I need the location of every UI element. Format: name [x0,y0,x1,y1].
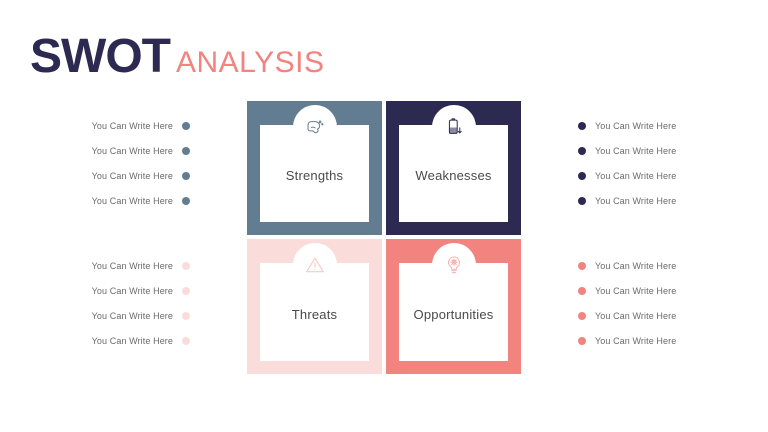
bullet-label: You Can Write Here [92,196,173,206]
swot-quadrant-grid: Strengths Weaknesses [247,101,521,374]
icon-badge-weaknesses [432,105,476,149]
list-item[interactable]: You Can Write Here [92,113,190,138]
bullet-list-opportunities: You Can Write Here You Can Write Here Yo… [578,253,708,353]
bullet-label: You Can Write Here [595,336,676,346]
bullet-dot-icon [182,262,190,270]
list-item[interactable]: You Can Write Here [578,163,676,188]
icon-badge-threats [293,243,337,287]
bullet-dot-icon [182,312,190,320]
bullet-label: You Can Write Here [92,146,173,156]
list-item[interactable]: You Can Write Here [578,303,676,328]
list-item[interactable]: You Can Write Here [92,278,190,303]
low-battery-icon [443,116,465,138]
bullet-dot-icon [182,287,190,295]
list-item[interactable]: You Can Write Here [92,303,190,328]
quadrant-label: Strengths [286,168,343,183]
bullet-dot-icon [578,197,586,205]
bullet-dot-icon [182,172,190,180]
list-item[interactable]: You Can Write Here [578,188,676,213]
list-item[interactable]: You Can Write Here [92,328,190,353]
bullet-dot-icon [578,122,586,130]
bullet-label: You Can Write Here [595,196,676,206]
bullet-label: You Can Write Here [92,311,173,321]
quadrant-label: Weaknesses [415,168,491,183]
warning-triangle-icon [304,254,326,276]
quadrant-label: Opportunities [414,307,494,322]
page-title: SWOT ANALYSIS [30,33,325,81]
bullet-dot-icon [182,337,190,345]
bullet-dot-icon [578,287,586,295]
bullet-label: You Can Write Here [595,121,676,131]
title-sub-word: ANALYSIS [176,48,325,78]
swot-analysis-slide: SWOT ANALYSIS You Can Write Here You Can… [0,0,768,432]
bullet-label: You Can Write Here [595,146,676,156]
list-item[interactable]: You Can Write Here [92,253,190,278]
bullet-label: You Can Write Here [92,121,173,131]
bullet-dot-icon [578,337,586,345]
bullet-dot-icon [578,262,586,270]
bullet-label: You Can Write Here [595,311,676,321]
bullet-dot-icon [182,122,190,130]
bullet-label: You Can Write Here [92,336,173,346]
list-item[interactable]: You Can Write Here [578,253,676,278]
quadrant-threats[interactable]: Threats [247,239,382,374]
list-item[interactable]: You Can Write Here [92,188,190,213]
bullet-dot-icon [578,172,586,180]
bullet-label: You Can Write Here [92,261,173,271]
list-item[interactable]: You Can Write Here [578,138,676,163]
list-item[interactable]: You Can Write Here [92,138,190,163]
list-item[interactable]: You Can Write Here [578,113,676,138]
quadrant-label: Threats [292,307,337,322]
quadrant-strengths[interactable]: Strengths [247,101,382,235]
lightbulb-gear-icon [443,254,465,276]
list-item[interactable]: You Can Write Here [578,278,676,303]
bullet-dot-icon [182,147,190,155]
title-main-word: SWOT [30,33,170,81]
bullet-label: You Can Write Here [92,286,173,296]
flexed-bicep-icon [304,116,326,138]
bullet-list-threats: You Can Write Here You Can Write Here Yo… [60,253,190,353]
quadrant-weaknesses[interactable]: Weaknesses [386,101,521,235]
list-item[interactable]: You Can Write Here [578,328,676,353]
bullet-label: You Can Write Here [595,286,676,296]
icon-badge-opportunities [432,243,476,287]
bullet-list-strengths: You Can Write Here You Can Write Here Yo… [60,113,190,213]
bullet-label: You Can Write Here [595,261,676,271]
bullet-list-weaknesses: You Can Write Here You Can Write Here Yo… [578,113,708,213]
bullet-dot-icon [182,197,190,205]
list-item[interactable]: You Can Write Here [92,163,190,188]
bullet-label: You Can Write Here [92,171,173,181]
bullet-label: You Can Write Here [595,171,676,181]
icon-badge-strengths [293,105,337,149]
quadrant-opportunities[interactable]: Opportunities [386,239,521,374]
bullet-dot-icon [578,147,586,155]
bullet-dot-icon [578,312,586,320]
